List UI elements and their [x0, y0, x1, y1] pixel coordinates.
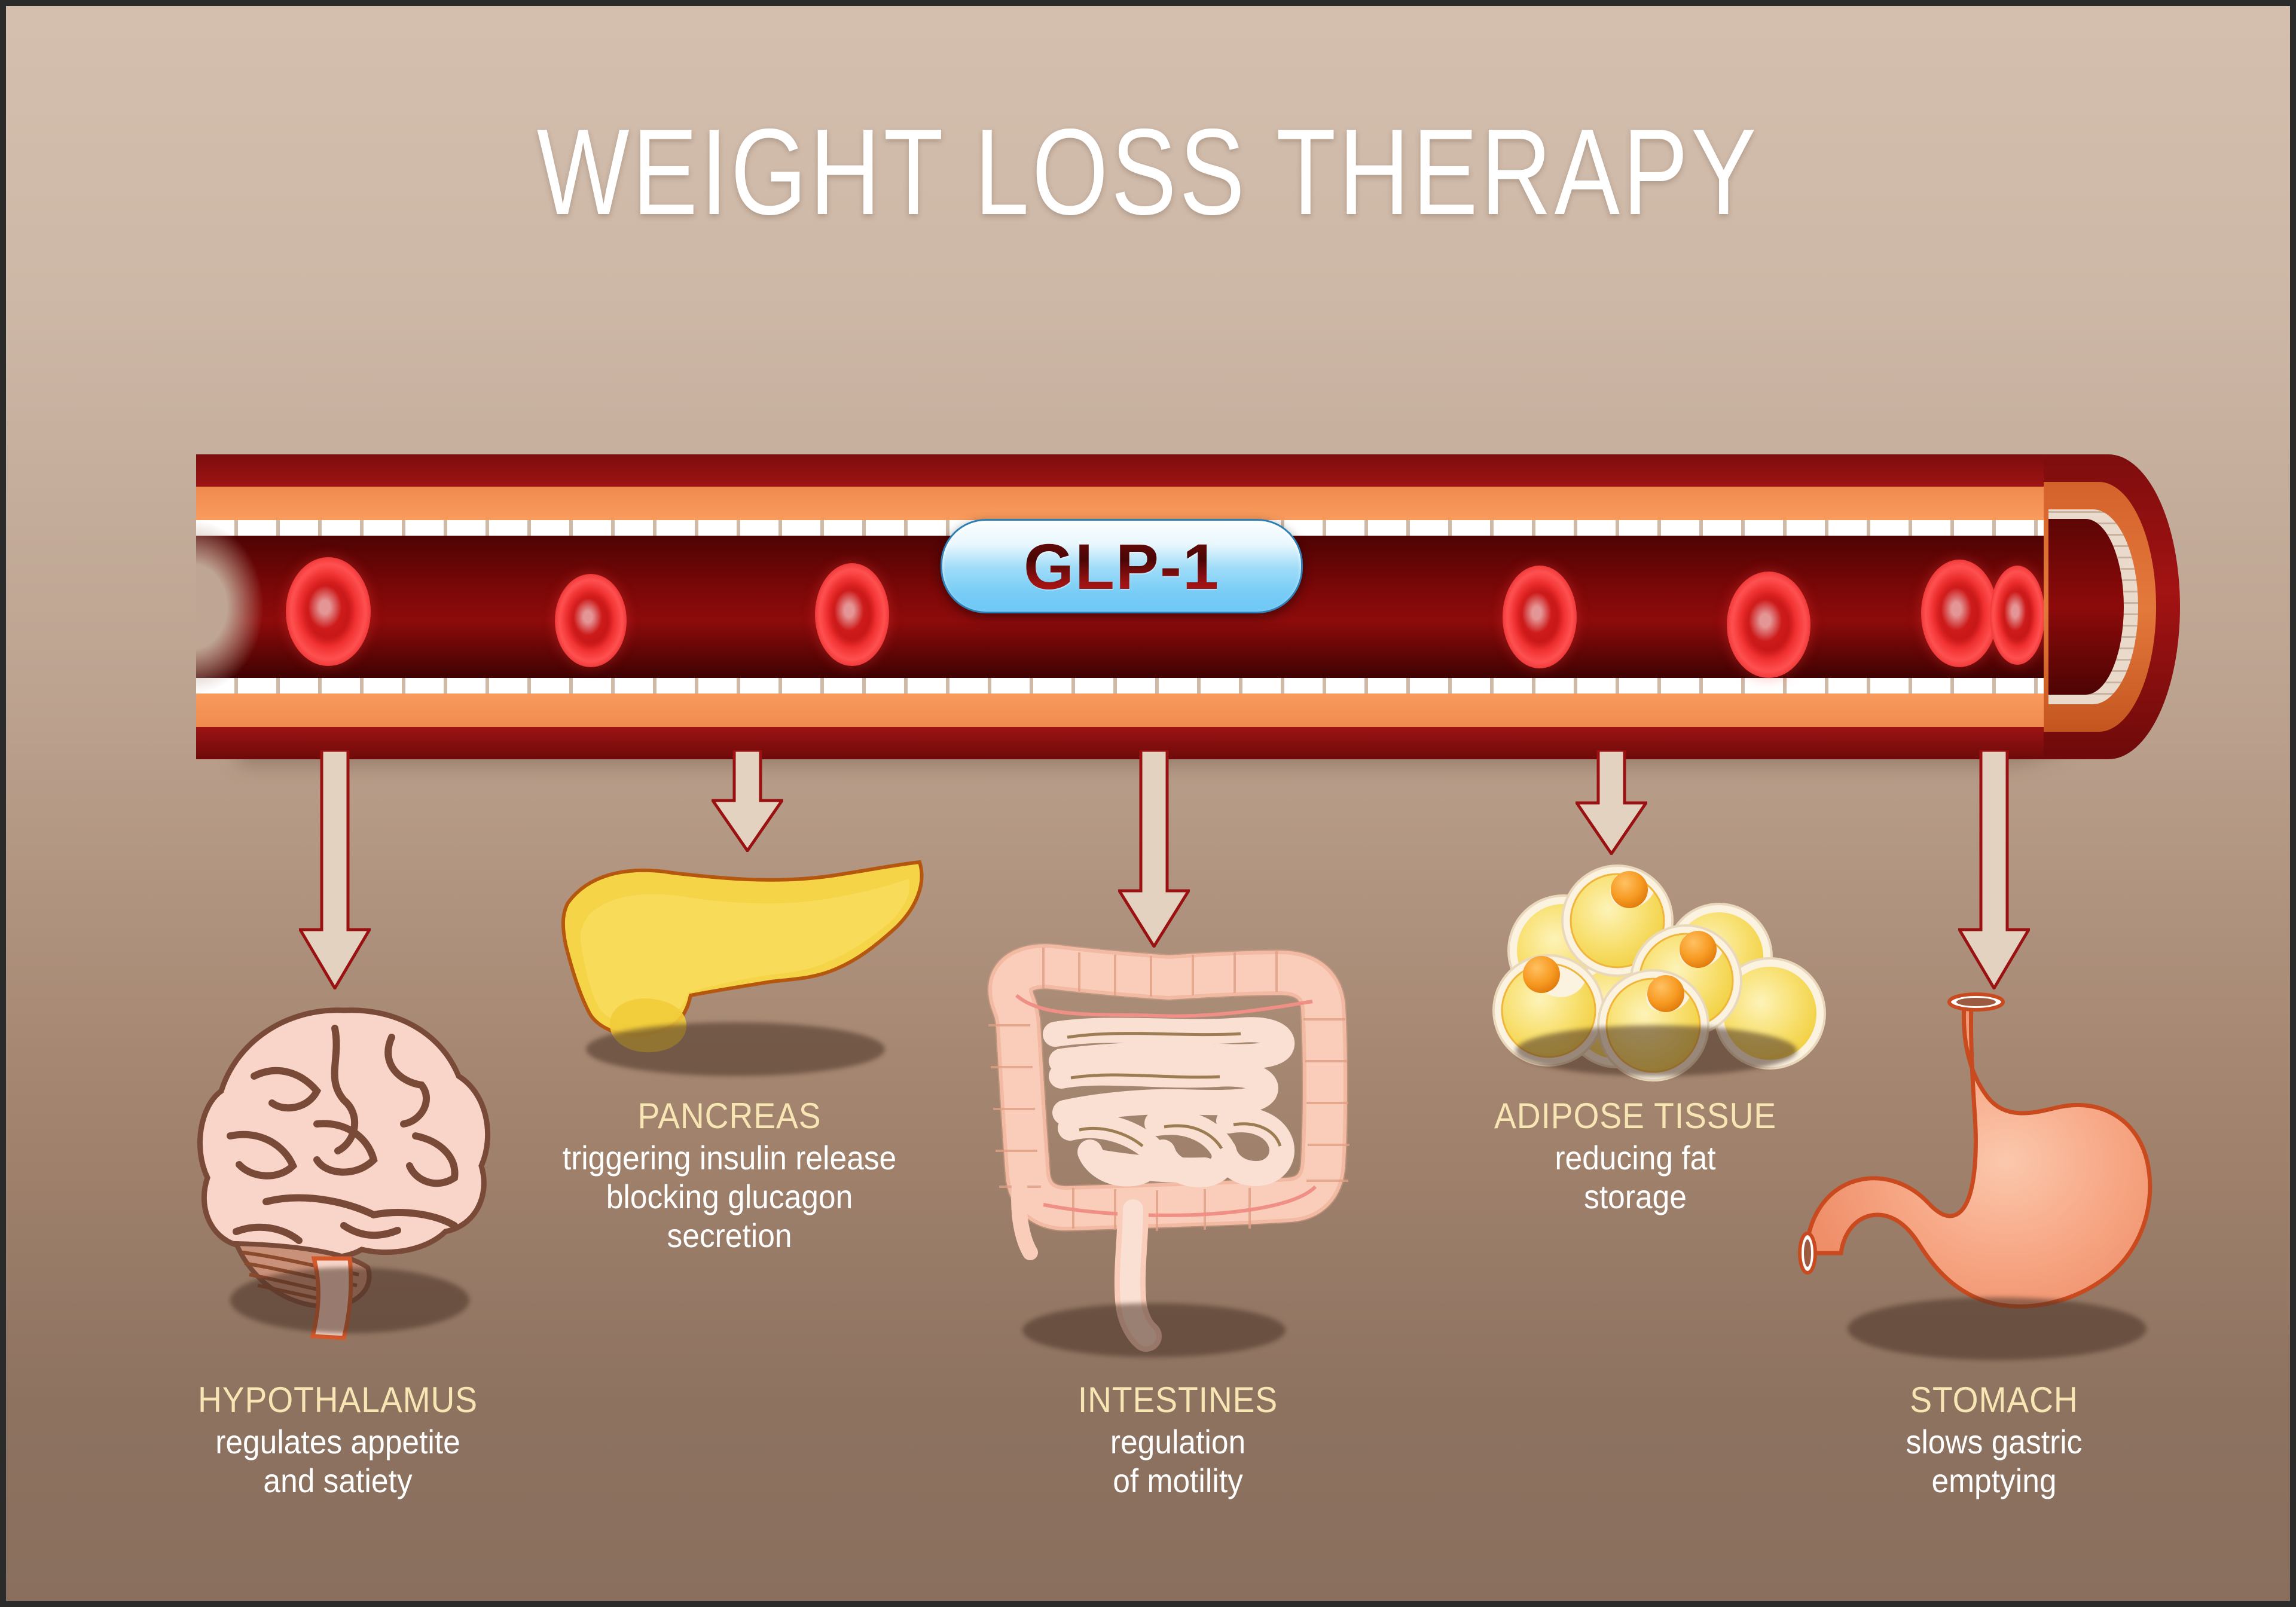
- label-adipose-tissue: ADIPOSE TISSUE reducing fat storage: [1396, 1097, 1874, 1217]
- pancreas-illustration: [532, 849, 939, 1088]
- glp1-badge-label: GLP-1: [1024, 529, 1220, 604]
- arrow-to-pancreas: [712, 750, 783, 852]
- blood-vessel-diagram: GLP-1: [196, 454, 2109, 759]
- vessel-middle-layer-bottom: [196, 693, 2044, 727]
- label-stomach-description: slows gastric emptying: [1777, 1423, 2212, 1501]
- vessel-open-end: [196, 519, 264, 695]
- label-hypothalamus-heading: HYPOTHALAMUS: [74, 1381, 602, 1419]
- label-intestines-heading: INTESTINES: [955, 1381, 1400, 1419]
- label-pancreas: PANCREAS triggering insulin release bloc…: [493, 1097, 966, 1255]
- label-stomach-heading: STOMACH: [1777, 1381, 2212, 1419]
- vessel-outer-layer-top: [196, 454, 2044, 487]
- label-intestines-description: regulation of motility: [955, 1423, 1400, 1501]
- red-blood-cell: [1921, 560, 1998, 667]
- red-blood-cell: [1727, 572, 1810, 678]
- intestines-illustration: [954, 918, 1384, 1360]
- label-pancreas-description: triggering insulin release blocking gluc…: [512, 1139, 947, 1255]
- red-blood-cell: [555, 574, 627, 667]
- brain-illustration: [164, 986, 535, 1357]
- arrow-to-stomach: [1958, 750, 2030, 989]
- pancreas-shadow: [586, 1022, 885, 1076]
- vessel-middle-layer-top: [196, 487, 2044, 520]
- intestines-icon: [954, 918, 1384, 1360]
- label-pancreas-heading: PANCREAS: [512, 1097, 947, 1135]
- red-blood-cell: [286, 557, 371, 666]
- label-adipose-tissue-description: reducing fat storage: [1415, 1139, 1855, 1217]
- adipose-shadow: [1516, 1025, 1797, 1076]
- vessel-cap-lumen: [2048, 519, 2124, 695]
- red-blood-cell: [1503, 566, 1577, 668]
- arrow-to-hypothalamus: [299, 750, 371, 989]
- page-title: WEIGHT LOSS THERAPY: [234, 111, 2062, 233]
- infographic-canvas: WEIGHT LOSS THERAPY GLP: [0, 0, 2296, 1607]
- label-hypothalamus: HYPOTHALAMUS regulates appetite and sati…: [51, 1381, 625, 1501]
- label-intestines: INTESTINES regulation of motility: [936, 1381, 1420, 1501]
- stomach-shadow: [1848, 1297, 2147, 1360]
- red-blood-cell: [1990, 566, 2044, 665]
- adipose-tissue-illustration: [1483, 855, 1830, 1094]
- brain-shadow: [230, 1267, 469, 1333]
- red-blood-cell: [815, 563, 889, 666]
- vessel-endothelium-bottom: [196, 678, 2044, 693]
- intestines-shadow: [1022, 1303, 1286, 1357]
- label-hypothalamus-description: regulates appetite and satiety: [74, 1423, 602, 1501]
- label-stomach: STOMACH slows gastric emptying: [1758, 1381, 2230, 1501]
- arrow-to-adipose-tissue: [1576, 750, 1647, 855]
- glp1-badge: GLP-1: [941, 519, 1303, 613]
- label-adipose-tissue-heading: ADIPOSE TISSUE: [1415, 1097, 1855, 1135]
- vessel-body: GLP-1: [196, 454, 2044, 759]
